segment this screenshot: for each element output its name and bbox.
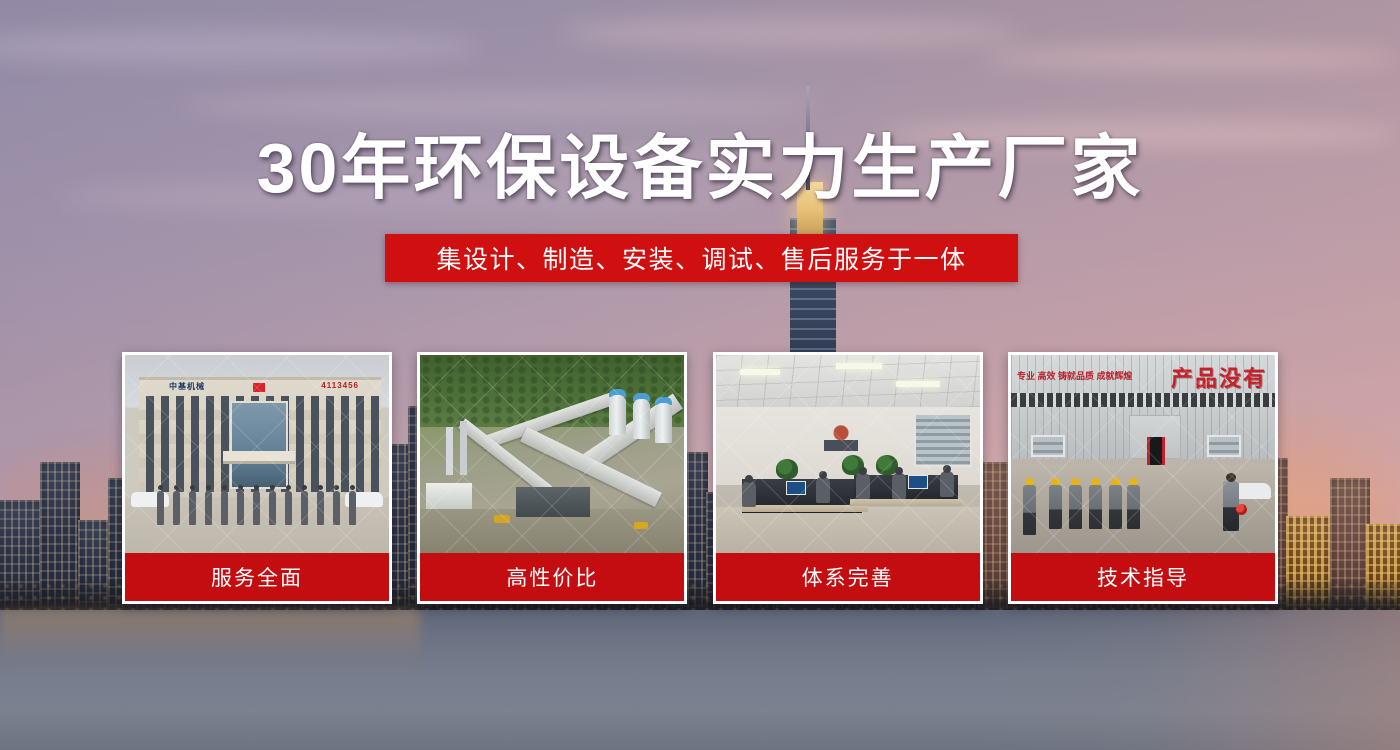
photo-headquarters-building: 中基机械 4113456 xyxy=(125,355,389,553)
photo-worker xyxy=(1023,485,1036,535)
photo-factory-slogan: 专业 高效 铸就品质 成就辉煌 xyxy=(1017,371,1133,382)
river-light-reflection xyxy=(0,610,420,672)
photo-seated-person xyxy=(940,471,954,497)
feature-card-list: 中基机械 4113456 服务全面 xyxy=(122,352,1278,604)
photo-factory-yard-briefing: 产品没有 专业 高效 铸就品质 成就辉煌 xyxy=(1011,355,1275,553)
photo-office-interior xyxy=(716,355,980,553)
subtitle-text: 集设计、制造、安装、调试、售后服务于一体 xyxy=(436,240,966,276)
card-caption: 体系完善 xyxy=(716,553,980,601)
photo-silo xyxy=(633,399,650,439)
photo-window-blinds xyxy=(914,413,972,467)
photo-monitor xyxy=(908,475,928,489)
photo-stack xyxy=(446,427,453,475)
photo-phone-number: 4113456 xyxy=(321,381,359,390)
photo-red-helmet xyxy=(1236,504,1247,515)
photo-worker xyxy=(1049,485,1062,529)
card-caption: 高性价比 xyxy=(420,553,684,601)
photo-flag xyxy=(253,383,265,392)
photo-monitor xyxy=(786,481,806,495)
photo-worker xyxy=(1127,485,1140,529)
photo-entrance xyxy=(230,401,288,489)
photo-seated-person xyxy=(816,477,830,503)
subtitle-banner: 集设计、制造、安装、调试、售后服务于一体 xyxy=(385,234,1018,282)
photo-doorway xyxy=(1147,437,1165,467)
photo-stack xyxy=(460,421,467,475)
card-caption: 服务全面 xyxy=(125,553,389,601)
photo-excavator xyxy=(634,522,648,529)
photo-ceiling-light xyxy=(896,381,940,387)
photo-seated-person xyxy=(856,473,870,499)
headline: 30年环保设备实力生产厂家 xyxy=(0,133,1400,203)
photo-staff-row xyxy=(157,485,367,525)
feature-card-service[interactable]: 中基机械 4113456 服务全面 xyxy=(122,352,392,604)
photo-window xyxy=(1031,435,1065,457)
photo-ceiling-light xyxy=(740,369,780,375)
photo-worker xyxy=(1069,485,1082,529)
photo-window xyxy=(1207,435,1241,457)
photo-shed xyxy=(426,483,472,509)
feature-card-training[interactable]: 产品没有 专业 高效 铸就品质 成就辉煌 技术指导 xyxy=(1008,352,1278,604)
photo-seated-person xyxy=(892,473,906,499)
photo-worker xyxy=(1109,485,1122,529)
river-sunset-tint xyxy=(980,610,1400,750)
feature-card-value[interactable]: 高性价比 xyxy=(417,352,687,604)
photo-factory-banner: 产品没有 xyxy=(1171,361,1267,393)
photo-shed xyxy=(516,487,590,517)
photo-desktop-surface xyxy=(850,499,962,506)
photo-excavator xyxy=(494,515,510,523)
photo-facade-band xyxy=(1011,393,1275,407)
photo-silo xyxy=(609,395,626,435)
photo-desktop-surface xyxy=(742,505,868,512)
photo-industrial-plant-aerial xyxy=(420,355,684,553)
photo-floor xyxy=(716,507,980,553)
feature-card-system[interactable]: 体系完善 xyxy=(713,352,983,604)
promo-banner: 30年环保设备实力生产厂家 集设计、制造、安装、调试、售后服务于一体 中基机械 … xyxy=(0,0,1400,750)
photo-ceiling-light xyxy=(836,363,882,369)
card-caption: 技术指导 xyxy=(1011,553,1275,601)
photo-worker xyxy=(1089,485,1102,529)
photo-silo xyxy=(655,403,672,443)
photo-canopy xyxy=(223,451,295,464)
photo-wall-logo xyxy=(824,423,858,451)
photo-company-sign: 中基机械 xyxy=(169,381,205,392)
photo-seated-person xyxy=(742,481,756,507)
photo-car xyxy=(1235,483,1271,499)
photo-potted-plant xyxy=(776,459,798,479)
